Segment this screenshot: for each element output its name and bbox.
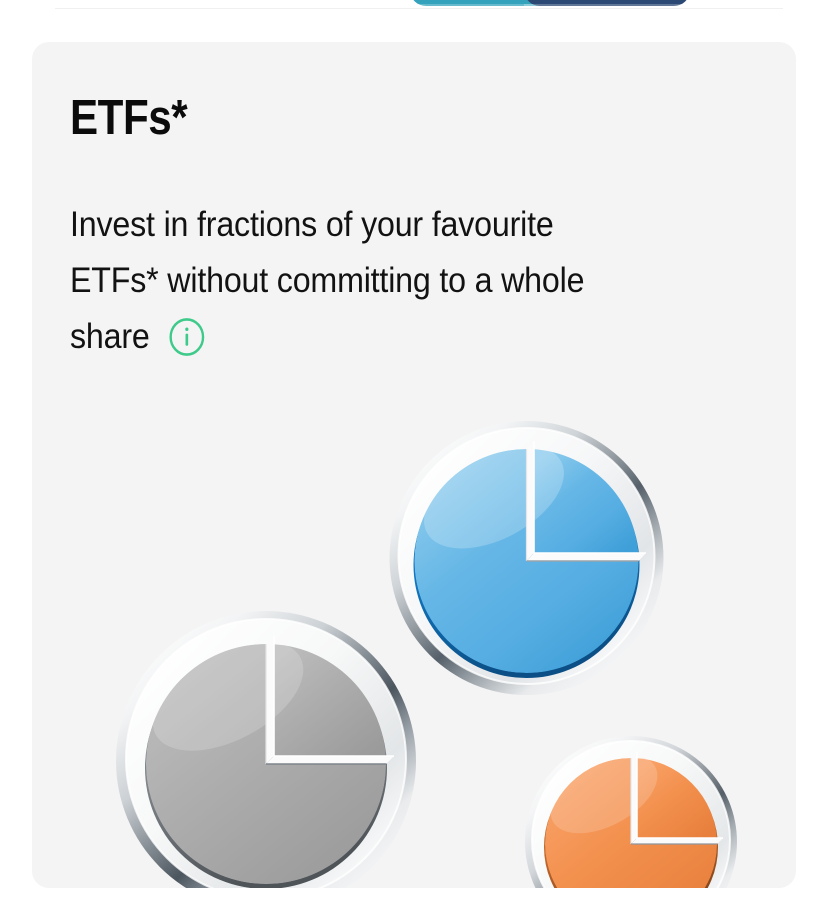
peek-card-navy[interactable] (524, 0, 690, 6)
orange-pie-disc (522, 732, 740, 888)
grey-pie-disc (110, 604, 422, 888)
description-line-3: share (70, 309, 150, 365)
blue-pie-disc (384, 415, 669, 700)
top-divider (55, 8, 783, 9)
pie-chart-illustration (32, 42, 796, 888)
screen-root: ETFs* Invest in fractions of your favour… (0, 0, 828, 913)
card-description: Invest in fractions of your favourite ET… (70, 197, 770, 365)
etfs-card[interactable]: ETFs* Invest in fractions of your favour… (32, 42, 796, 888)
description-line-1: Invest in fractions of your favourite (70, 197, 714, 253)
description-line-3-row: share (70, 309, 714, 365)
page-title: ETFs* (70, 94, 187, 143)
info-icon[interactable] (168, 317, 205, 357)
description-line-2: ETFs* without committing to a whole (70, 253, 714, 309)
